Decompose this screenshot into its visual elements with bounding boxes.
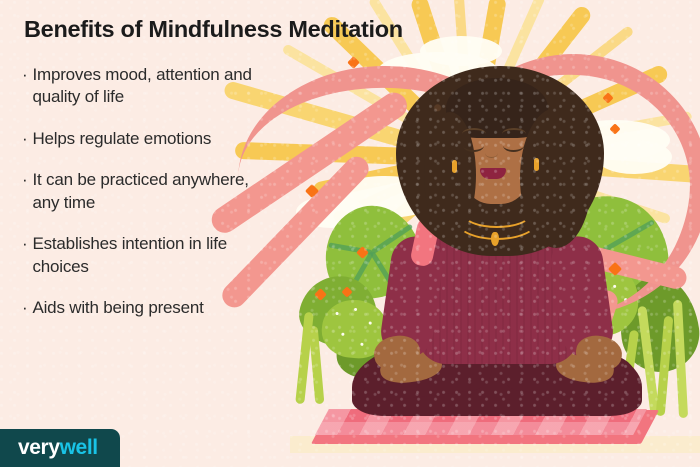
smiling-mouth bbox=[480, 168, 506, 179]
benefits-list: · Improves mood, attention and quality o… bbox=[22, 64, 257, 339]
earring-left bbox=[452, 160, 457, 173]
bullet-marker: · bbox=[22, 297, 27, 319]
earring-right bbox=[534, 158, 539, 171]
infographic-canvas: Benefits of Mindfulness Meditation · Imp… bbox=[0, 0, 700, 467]
nose bbox=[485, 148, 498, 158]
verywell-logo[interactable]: very well bbox=[0, 429, 120, 467]
list-item-label: It can be practiced anywhere, any time bbox=[32, 169, 257, 214]
necklace-pendant bbox=[491, 232, 499, 246]
list-item-label: Helps regulate emotions bbox=[32, 128, 257, 150]
list-item: · Establishes intention in life choices bbox=[22, 233, 257, 278]
page-title: Benefits of Mindfulness Meditation bbox=[24, 17, 494, 43]
list-item-label: Improves mood, attention and quality of … bbox=[32, 64, 257, 109]
flower-dot bbox=[369, 321, 372, 324]
flower-dot bbox=[341, 333, 344, 336]
list-item: · Aids with being present bbox=[22, 297, 257, 319]
list-item: · Improves mood, attention and quality o… bbox=[22, 64, 257, 109]
flower-dot bbox=[335, 312, 338, 315]
bullet-marker: · bbox=[22, 169, 27, 191]
bullet-marker: · bbox=[22, 233, 27, 255]
eye-left-closed bbox=[463, 139, 484, 152]
flower-dot bbox=[354, 308, 357, 311]
list-item-label: Establishes intention in life choices bbox=[32, 233, 257, 278]
flower-dot bbox=[360, 343, 363, 346]
eye-right-closed bbox=[503, 139, 524, 152]
bullet-marker: · bbox=[22, 64, 27, 86]
logo-text-very: very bbox=[18, 436, 60, 460]
list-item: · It can be practiced anywhere, any time bbox=[22, 169, 257, 214]
bullet-marker: · bbox=[22, 128, 27, 150]
list-item-label: Aids with being present bbox=[32, 297, 257, 319]
list-item: · Helps regulate emotions bbox=[22, 128, 257, 150]
logo-text-well: well bbox=[60, 436, 98, 460]
